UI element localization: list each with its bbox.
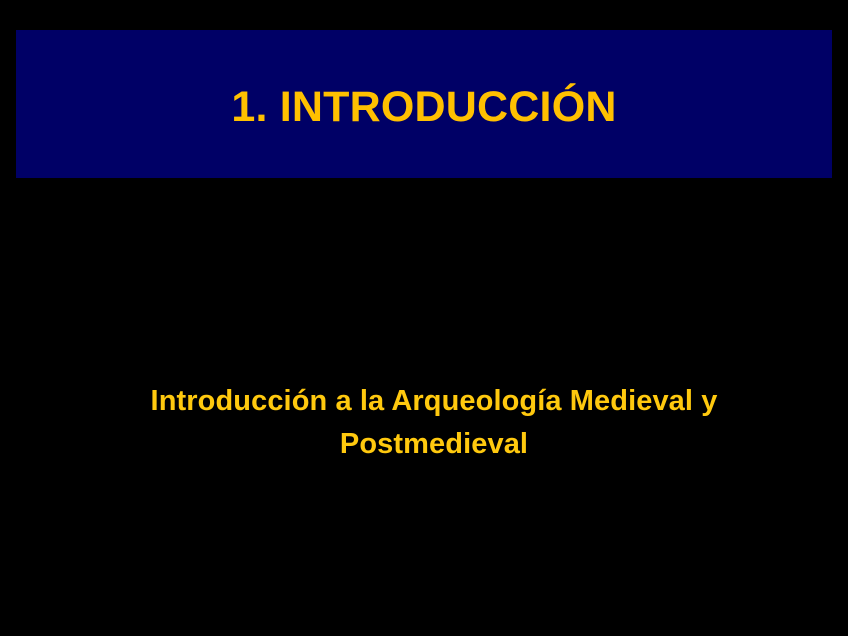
slide-subtitle: Introducción a la Arqueología Medieval y… [56,380,812,466]
slide-body-block: Introducción a la Arqueología Medieval y… [56,380,812,466]
slide-title: 1. INTRODUCCIÓN [231,85,616,130]
presentation-slide: 1. INTRODUCCIÓN Introducción a la Arqueo… [0,0,848,636]
slide-title-banner: 1. INTRODUCCIÓN [16,30,832,178]
